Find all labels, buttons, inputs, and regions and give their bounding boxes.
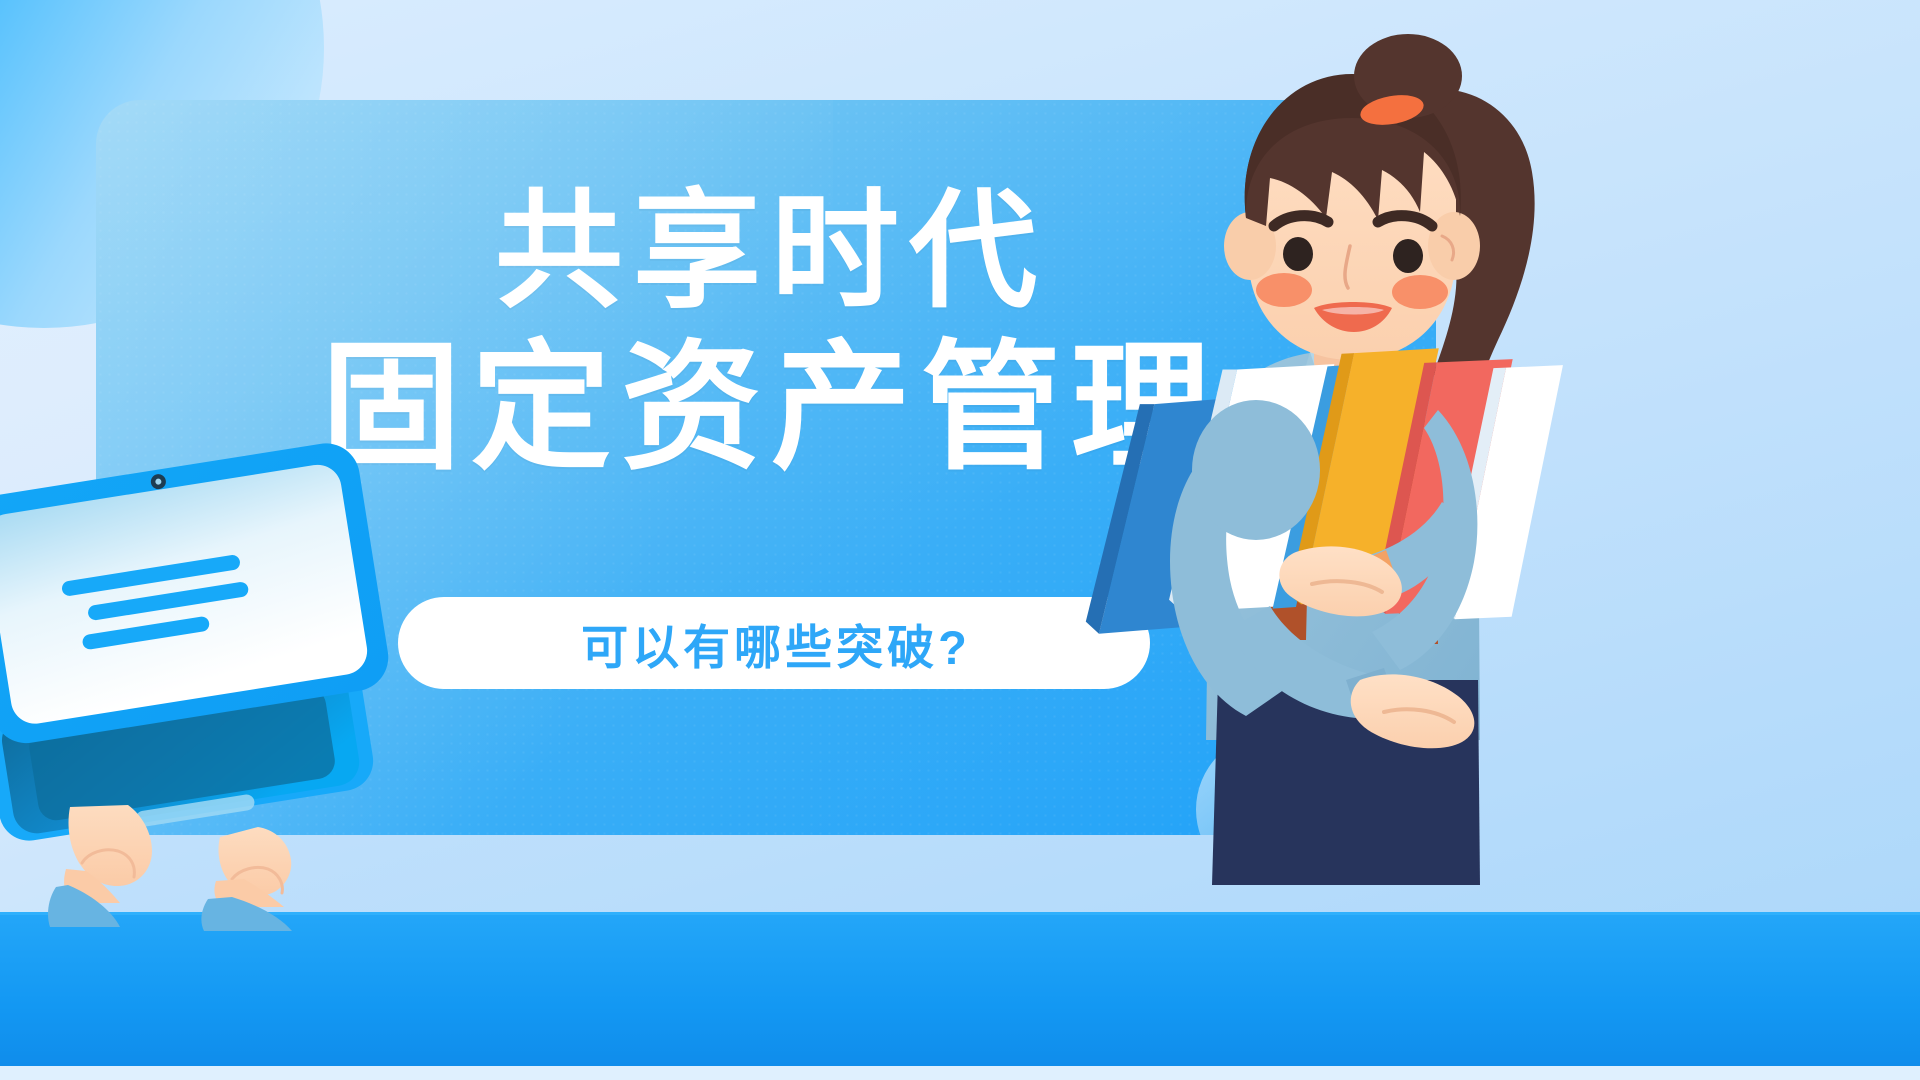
bottom-strip (0, 915, 1920, 1080)
title-line-1: 共享时代 (485, 188, 1047, 316)
laptop-illustration (0, 455, 400, 885)
poster-canvas: 共享时代 固定资产管理 可以有哪些突破? (0, 0, 1920, 1080)
bottom-sliver (0, 1066, 1920, 1080)
subtitle-pill: 可以有哪些突破? (398, 597, 1150, 689)
girl-character-illustration (1060, 40, 1560, 885)
subtitle-text: 可以有哪些突破? (577, 609, 971, 678)
